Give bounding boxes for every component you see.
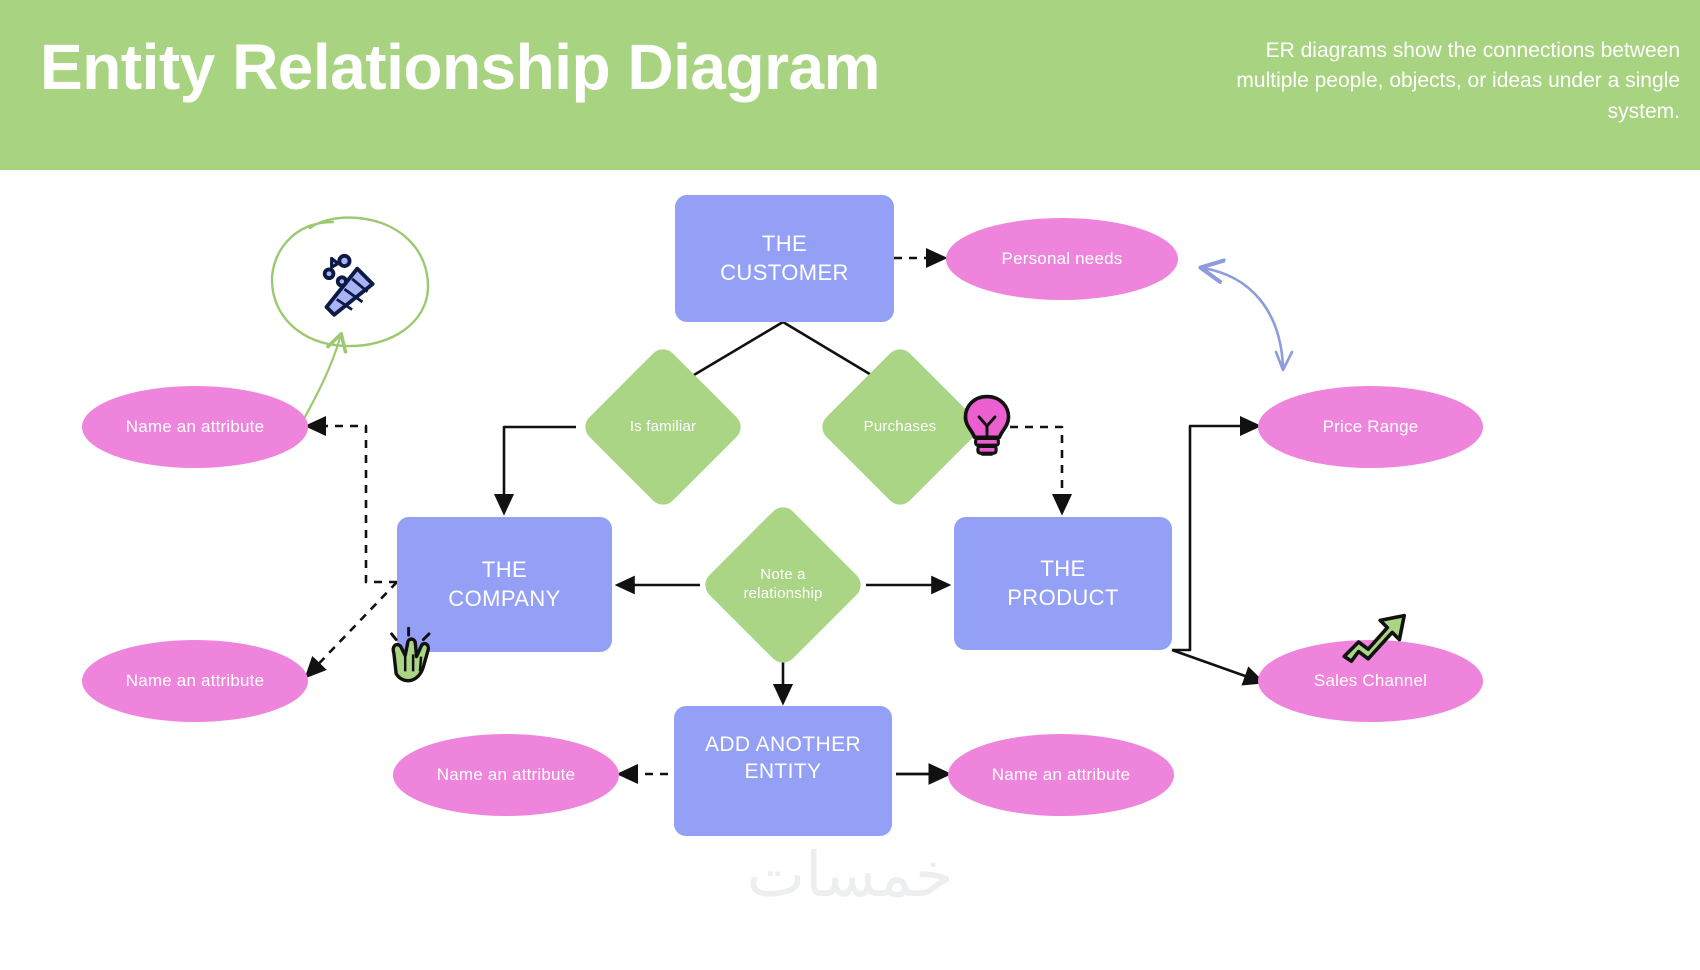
- attribute-name-bottom-1-label: Name an attribute: [437, 765, 576, 785]
- curved-double-arrow-icon: [1203, 268, 1283, 366]
- header-banner: Entity Relationship Diagram ER diagrams …: [0, 0, 1700, 170]
- attribute-name-bottom-2[interactable]: Name an attribute: [948, 734, 1174, 816]
- entity-the-product-line1: THE: [1040, 555, 1085, 584]
- page-title: Entity Relationship Diagram: [40, 34, 1100, 101]
- relationship-is-familiar[interactable]: Is familiar: [604, 368, 722, 486]
- attribute-name-top-left-label: Name an attribute: [126, 417, 265, 437]
- relationship-purchases[interactable]: Purchases: [841, 368, 959, 486]
- attribute-name-bottom-left-label: Name an attribute: [126, 671, 265, 691]
- entity-add-another-entity-line1: ADD ANOTHER: [705, 731, 861, 758]
- attribute-sales-channel-label: Sales Channel: [1314, 671, 1427, 691]
- relationship-note-line2: relationship: [737, 585, 828, 604]
- entity-add-another-entity[interactable]: ADD ANOTHER ENTITY: [674, 706, 892, 836]
- entity-the-customer[interactable]: THE CUSTOMER: [675, 195, 894, 322]
- attribute-name-top-left[interactable]: Name an attribute: [82, 386, 308, 468]
- relationship-purchases-label: Purchases: [858, 418, 943, 437]
- attribute-price-range-label: Price Range: [1323, 417, 1419, 437]
- entity-the-company-line2: COMPANY: [448, 585, 560, 614]
- attribute-name-bottom-2-label: Name an attribute: [992, 765, 1131, 785]
- attribute-price-range[interactable]: Price Range: [1258, 386, 1483, 468]
- entity-the-product-line2: PRODUCT: [1007, 584, 1119, 613]
- attribute-personal-needs-label: Personal needs: [1002, 249, 1123, 269]
- relationship-is-familiar-label: Is familiar: [624, 418, 702, 437]
- attribute-personal-needs[interactable]: Personal needs: [946, 218, 1178, 300]
- party-popper-icon: [306, 243, 388, 325]
- upward-trend-arrow-icon: [1337, 594, 1409, 666]
- relationship-note-line1: Note a: [754, 566, 811, 585]
- er-diagram-canvas: Entity Relationship Diagram ER diagrams …: [0, 0, 1700, 970]
- entity-the-product[interactable]: THE PRODUCT: [954, 517, 1172, 650]
- entity-add-another-entity-line2: ENTITY: [744, 758, 821, 785]
- entity-the-company-line1: THE: [482, 556, 527, 585]
- edge-is-familiar-company: [504, 427, 576, 512]
- header-subtitle: ER diagrams show the connections between…: [1210, 36, 1680, 127]
- edge-company-attr-topleft: [308, 426, 397, 582]
- edge-product-price-range: [1172, 426, 1258, 650]
- entity-the-customer-line1: THE: [762, 230, 807, 259]
- entity-the-customer-line2: CUSTOMER: [720, 259, 849, 288]
- attribute-name-bottom-1[interactable]: Name an attribute: [393, 734, 619, 816]
- edge-purchases-product: [1010, 427, 1062, 512]
- relationship-note-a-relationship[interactable]: Note a relationship: [724, 526, 842, 644]
- light-bulb-icon: [958, 392, 1016, 460]
- attribute-name-bottom-left[interactable]: Name an attribute: [82, 640, 308, 722]
- watermark-text: خمسات: [660, 838, 1040, 911]
- clapping-hands-icon: [378, 626, 446, 694]
- edge-product-sales-channel: [1172, 650, 1262, 682]
